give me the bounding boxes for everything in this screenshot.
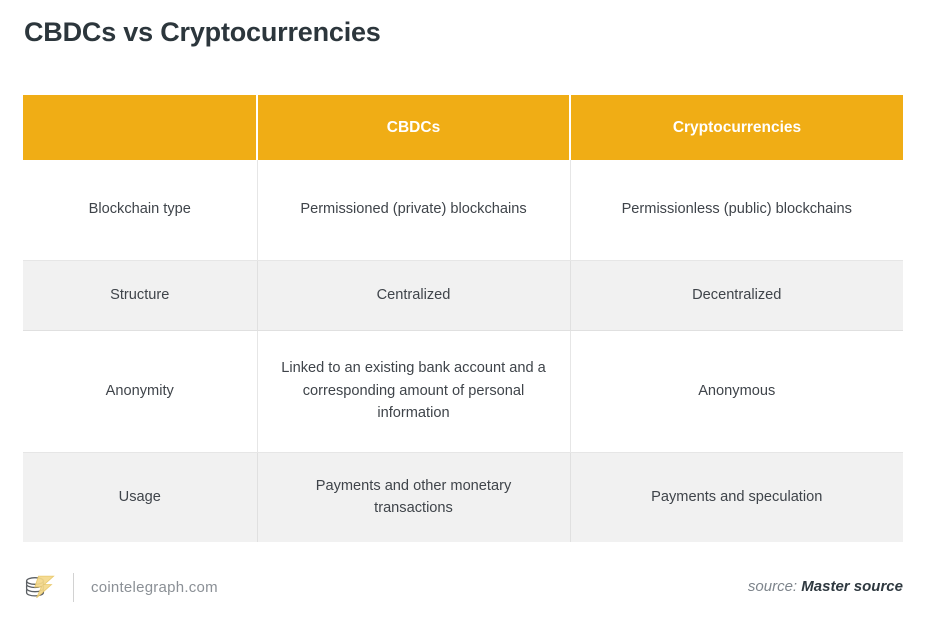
table-row: Structure Centralized Decentralized [23,260,903,330]
infographic-page: CBDCs vs Cryptocurrencies CBDCs Cryptocu… [0,0,928,620]
cell-cbdc-anonymity: Linked to an existing bank account and a… [257,330,570,452]
row-label-blockchain-type: Blockchain type [23,160,257,260]
cell-cbdc-blockchain-type: Permissioned (private) blockchains [257,160,570,260]
coin-stack-lightning-icon [23,572,57,602]
table-row: Usage Payments and other monetary transa… [23,452,903,542]
table-row: Blockchain type Permissioned (private) b… [23,160,903,260]
table-header: CBDCs Cryptocurrencies [23,95,903,160]
brand-name: cointelegraph.com [91,579,218,596]
source-label: source: [748,578,797,595]
cell-crypto-usage: Payments and speculation [570,452,903,542]
table-header-row: CBDCs Cryptocurrencies [23,95,903,160]
brand-block: cointelegraph.com [23,570,218,604]
column-header-blank [23,95,257,160]
source-value: Master source [801,578,903,595]
column-header-cryptocurrencies: Cryptocurrencies [570,95,903,160]
comparison-table: CBDCs Cryptocurrencies Blockchain type P… [23,95,903,542]
table-body: Blockchain type Permissioned (private) b… [23,160,903,542]
footer: cointelegraph.com source: Master source [0,560,928,620]
brand-divider [73,573,74,602]
cell-crypto-structure: Decentralized [570,260,903,330]
row-label-usage: Usage [23,452,257,542]
table-row: Anonymity Linked to an existing bank acc… [23,330,903,452]
cell-crypto-anonymity: Anonymous [570,330,903,452]
column-header-cbdcs: CBDCs [257,95,570,160]
cell-crypto-blockchain-type: Permissionless (public) blockchains [570,160,903,260]
cell-cbdc-structure: Centralized [257,260,570,330]
row-label-structure: Structure [23,260,257,330]
cell-cbdc-usage: Payments and other monetary transactions [257,452,570,542]
page-title: CBDCs vs Cryptocurrencies [24,17,381,48]
row-label-anonymity: Anonymity [23,330,257,452]
source-attribution: source: Master source [748,578,903,595]
